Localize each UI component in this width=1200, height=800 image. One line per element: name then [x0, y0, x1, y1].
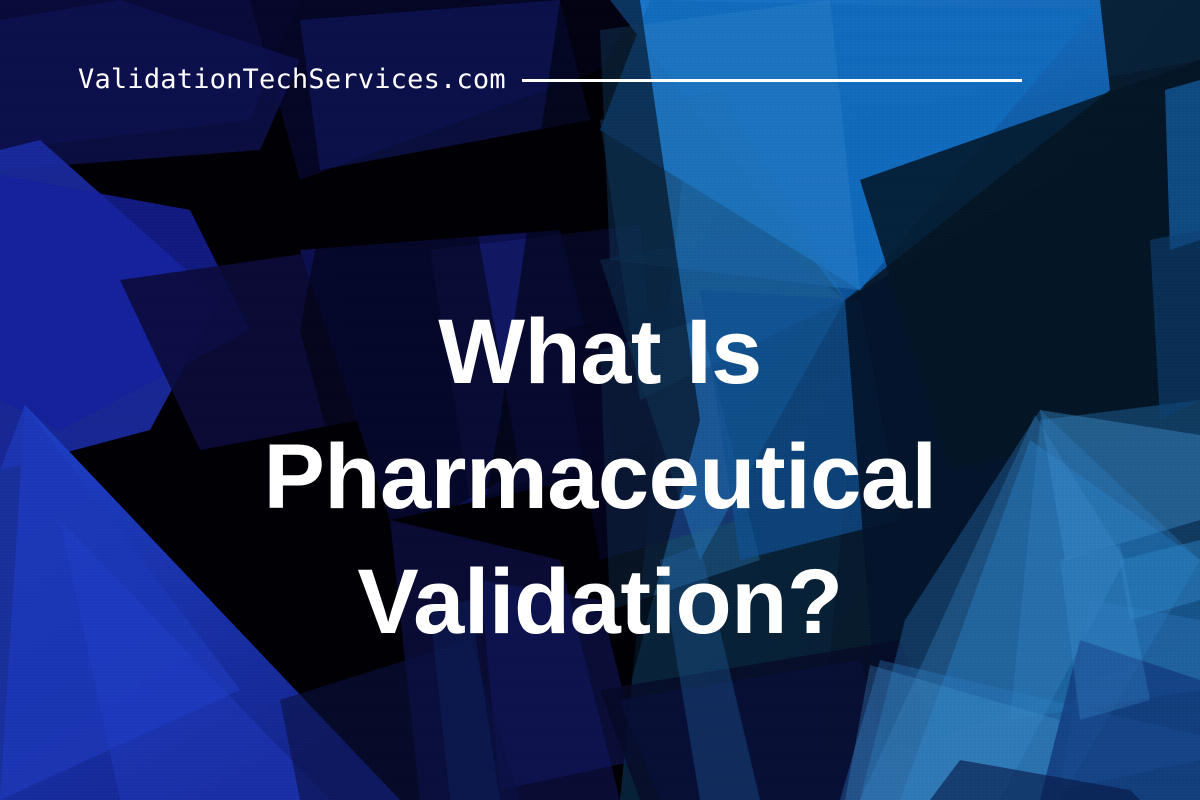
brand-row: ValidationTechServices.com: [78, 58, 1122, 100]
title-line-1: What Is: [0, 290, 1200, 415]
page-title: What Is Pharmaceutical Validation?: [0, 290, 1200, 665]
brand-divider-rule: [522, 79, 1022, 82]
title-line-3: Validation?: [0, 540, 1200, 665]
title-line-2: Pharmaceutical: [0, 415, 1200, 540]
promo-banner: ValidationTechServices.com What Is Pharm…: [0, 0, 1200, 800]
site-name: ValidationTechServices.com: [78, 66, 506, 93]
